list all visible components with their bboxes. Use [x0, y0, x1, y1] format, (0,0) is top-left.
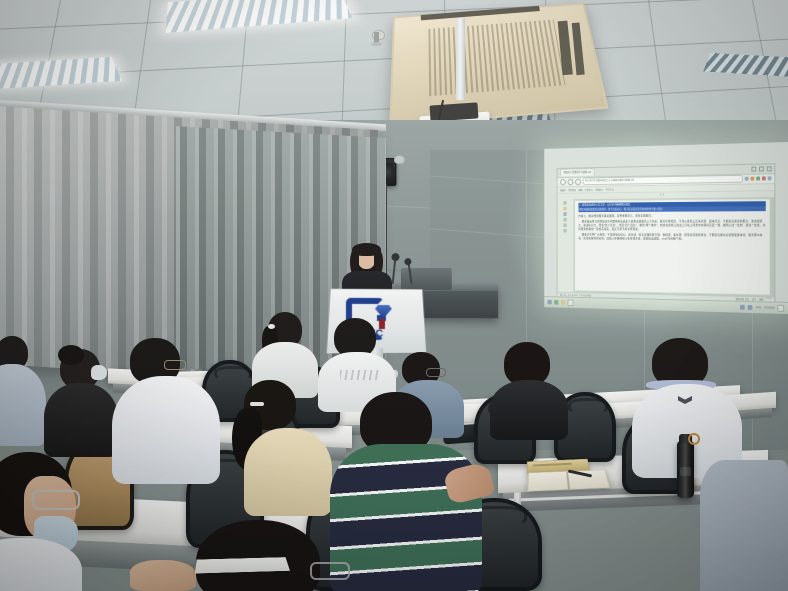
- hair-bun: [58, 345, 84, 365]
- attendee: [490, 342, 568, 432]
- projected-browser-window[interactable]: 中国共产党章程学习资料.pdf file:///D:/学习资料/党的二十大精神专…: [557, 163, 776, 304]
- document-paragraph: 要教育引导广大党员、干部增强责任心、使命感，树立正确的权力观、政绩观、事业观、增…: [578, 233, 765, 241]
- taskbar-clock[interactable]: 15:42: [756, 306, 762, 309]
- attendee-body: [0, 364, 46, 446]
- start-menu-icon[interactable]: [548, 300, 552, 305]
- browser-extension-icons[interactable]: [745, 176, 772, 180]
- security-camera-icon: [394, 155, 405, 164]
- page-thumb[interactable]: [564, 229, 567, 233]
- volume-icon[interactable]: [748, 305, 753, 310]
- eyeglasses-icon: [32, 490, 80, 510]
- document-paragraph: 内容上，推动党和国家事业发展，具有重要意义，深化主题教育；: [578, 213, 765, 218]
- attendee-body: [490, 380, 568, 440]
- page-indicator: 2 / 6: [660, 194, 664, 196]
- sprinkler-head-icon: [374, 32, 379, 44]
- profile-icon[interactable]: [762, 177, 766, 181]
- open-notebook[interactable]: [527, 470, 610, 492]
- page-thumb[interactable]: [564, 223, 567, 227]
- search-icon[interactable]: [564, 217, 567, 221]
- shirt-print: [340, 370, 380, 380]
- back-icon[interactable]: [560, 179, 566, 186]
- face-mask: [91, 365, 107, 380]
- document-paragraph: 要在推动学习贯彻新时代中国特色社会主义思想主题教育上下功夫，教育引导党员、干部从…: [578, 219, 765, 231]
- reload-icon[interactable]: [575, 178, 581, 185]
- maximize-icon[interactable]: [759, 166, 764, 171]
- projection-screen: 中国共产党章程学习资料.pdf file:///D:/学习资料/党的二十大精神专…: [544, 142, 788, 314]
- document-subheading: 要坚持和加强党的全面领导，坚守为民初心，把人民对美好生活的向往作为奋斗目标: [578, 206, 765, 212]
- bookmark-item[interactable]: 内网办公: [595, 187, 603, 191]
- bookmark-item[interactable]: 常用网站: [568, 188, 576, 192]
- browser-tab[interactable]: 中国共产党章程学习资料.pdf: [560, 168, 594, 176]
- document-page: 1. 加强和改进办公室工作、以钉钉子精神抓好落实 要坚持和加强党的全面领导，坚守…: [574, 198, 770, 296]
- bottle-label: [680, 467, 691, 476]
- fluorescent-light-panel: [166, 0, 353, 33]
- bookmark-item[interactable]: 学习平台: [606, 187, 614, 191]
- bookmark-item[interactable]: 收藏夹: [560, 188, 566, 192]
- taskbar-date[interactable]: 2023/9/26: [764, 306, 774, 309]
- shield-icon[interactable]: [756, 177, 760, 181]
- thumbnail-icon[interactable]: [564, 201, 567, 205]
- close-icon[interactable]: [767, 166, 772, 171]
- attendee-body: [44, 383, 118, 457]
- fluorescent-light-panel: [0, 57, 122, 91]
- window-controls[interactable]: [751, 166, 771, 171]
- bookmark-item[interactable]: 文档中心: [585, 187, 593, 191]
- attendee: [44, 345, 118, 455]
- browser-icon[interactable]: [561, 300, 565, 305]
- eyeglasses-icon: [426, 368, 446, 377]
- bookmark-item[interactable]: 邮箱: [579, 188, 583, 192]
- attendee-body: [112, 376, 220, 484]
- bookmark-panel-icon[interactable]: [564, 212, 567, 216]
- water-bottle[interactable]: [677, 441, 694, 498]
- paper-sheet[interactable]: [195, 557, 290, 573]
- file-explorer-icon[interactable]: [554, 300, 558, 305]
- projector-mount-pole: [456, 18, 465, 100]
- hair-clip-icon: [250, 402, 264, 406]
- attendee: [116, 338, 216, 478]
- attendee: [330, 392, 480, 591]
- eyeglasses-icon: [310, 562, 350, 580]
- attendee: [224, 380, 330, 512]
- classroom-photo-scene: 中国共产党章程学习资料.pdf file:///D:/学习资料/党的二十大精神专…: [0, 0, 788, 591]
- network-icon[interactable]: [740, 305, 745, 310]
- forward-icon[interactable]: [568, 178, 574, 185]
- attendee: [0, 452, 116, 591]
- eyeglasses-icon: [164, 360, 186, 370]
- attendee-body: [330, 444, 482, 591]
- system-tray[interactable]: 15:42 2023/9/26: [740, 304, 784, 312]
- fluorescent-light-panel: [703, 53, 788, 78]
- attendee-legs: [700, 460, 788, 591]
- chat-app-icon[interactable]: [568, 299, 574, 306]
- attendee-hand: [130, 560, 196, 591]
- pdf-sidebar[interactable]: [557, 199, 573, 292]
- menu-icon[interactable]: [768, 176, 772, 180]
- hair-tie: [268, 324, 275, 329]
- highlight-icon[interactable]: [564, 206, 567, 210]
- bottle-carry-loop-icon: [688, 433, 700, 445]
- download-icon[interactable]: [745, 177, 749, 181]
- attendee-head: [196, 520, 320, 591]
- attendee: [182, 520, 332, 591]
- browser-viewport: 1. 加强和改进办公室工作、以钉钉子精神抓好落实 要坚持和加强党的全面领导，坚守…: [557, 197, 774, 297]
- attendee: [0, 336, 44, 446]
- attendee-body: [244, 428, 332, 516]
- bookmark-star-icon[interactable]: [750, 177, 754, 181]
- minimize-icon[interactable]: [751, 166, 756, 171]
- notifications-icon[interactable]: [777, 305, 784, 312]
